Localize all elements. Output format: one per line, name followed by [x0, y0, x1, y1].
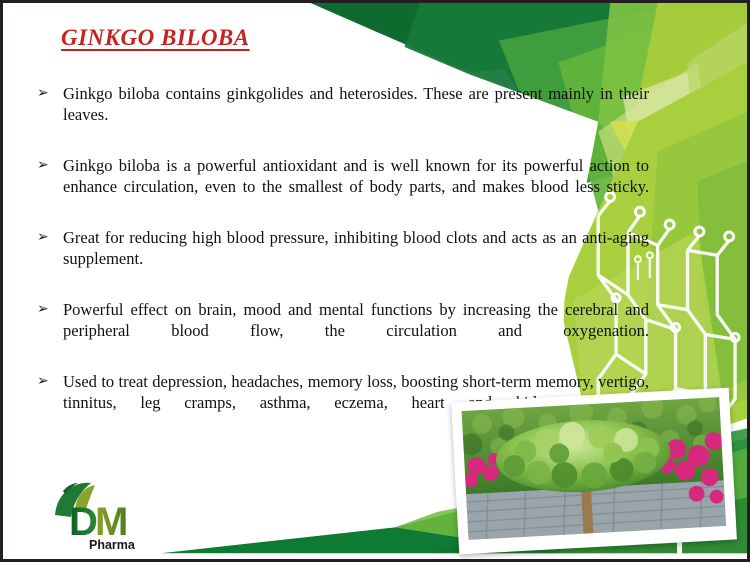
list-item: ➢ Powerful effect on brain, mood and men… — [37, 299, 649, 362]
list-item: ➢ Ginkgo biloba contains ginkgolides and… — [37, 83, 649, 146]
arrow-bullet-icon: ➢ — [37, 83, 63, 104]
bullet-list: ➢ Ginkgo biloba contains ginkgolides and… — [37, 83, 649, 443]
list-item-text: Ginkgo biloba is a powerful antioxidant … — [63, 155, 649, 218]
list-item: ➢ Ginkgo biloba is a powerful antioxidan… — [37, 155, 649, 218]
logo-tagline: Pharma — [89, 538, 136, 552]
slide-title-text: GINKGO BILOBA — [61, 25, 250, 51]
deco-right-band-3 — [697, 161, 747, 398]
list-item: ➢ Great for reducing high blood pressure… — [37, 227, 649, 290]
arrow-bullet-icon: ➢ — [37, 155, 63, 176]
slide-canvas: GINKGO BILOBA ➢ Ginkgo biloba contains g… — [0, 0, 750, 562]
page-title: GINKGO BILOBA — [61, 25, 250, 51]
ginkgo-photo — [462, 397, 727, 540]
ginkgo-photo-frame — [451, 388, 737, 555]
list-item-text: Ginkgo biloba contains ginkgolides and h… — [63, 83, 649, 146]
deco-lime-facet-2 — [687, 23, 747, 251]
arrow-bullet-icon: ➢ — [37, 227, 63, 248]
dm-pharma-logo: D M Pharma — [47, 479, 163, 553]
list-item-text: Great for reducing high blood pressure, … — [63, 227, 649, 290]
arrow-bullet-icon: ➢ — [37, 371, 63, 392]
list-item-text: Powerful effect on brain, mood and menta… — [63, 299, 649, 362]
arrow-bullet-icon: ➢ — [37, 299, 63, 320]
deco-top-dark-wedge — [311, 3, 747, 72]
